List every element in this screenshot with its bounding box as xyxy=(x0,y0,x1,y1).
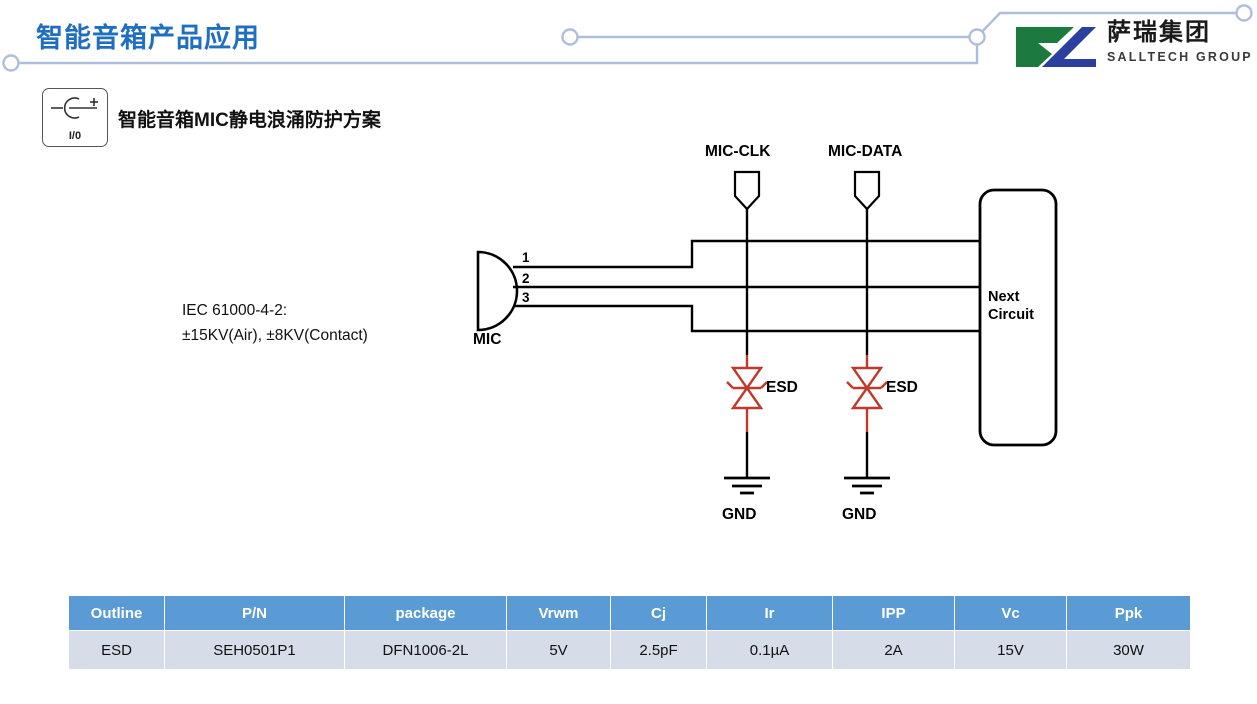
pin-number-2: 2 xyxy=(522,271,530,286)
label-next-circuit: Next Circuit xyxy=(988,288,1034,324)
next-circuit-line-2: Circuit xyxy=(988,306,1034,324)
esd-diode-2 xyxy=(847,355,887,432)
table-header-cell: Ppk xyxy=(1067,596,1191,631)
table-header-cell: Vrwm xyxy=(507,596,611,631)
table-cell: 30W xyxy=(1067,631,1191,670)
schematic-diagram: MIC-CLK MIC-DATA MIC ESD ESD GND GND Nex… xyxy=(0,0,1257,570)
label-esd-2: ESD xyxy=(886,379,918,397)
table-cell: DFN1006-2L xyxy=(345,631,507,670)
pin-number-3: 3 xyxy=(522,290,530,305)
table-cell: SEH0501P1 xyxy=(165,631,345,670)
label-mic-data: MIC-DATA xyxy=(828,143,902,161)
table-cell: ESD xyxy=(69,631,165,670)
table-cell: 15V xyxy=(955,631,1067,670)
table-header-cell: package xyxy=(345,596,507,631)
table-cell: 2A xyxy=(833,631,955,670)
table-header-row: OutlineP/NpackageVrwmCjIrIPPVcPpk xyxy=(69,596,1191,631)
esd-diode-1 xyxy=(727,355,767,432)
label-mic: MIC xyxy=(473,331,501,349)
table-cell: 5V xyxy=(507,631,611,670)
schematic-canvas xyxy=(0,0,1257,570)
table-header-cell: P/N xyxy=(165,596,345,631)
table-header-cell: Vc xyxy=(955,596,1067,631)
table-header-cell: IPP xyxy=(833,596,955,631)
port-mic-data-symbol xyxy=(855,172,879,209)
label-gnd-2: GND xyxy=(842,506,876,524)
gnd-symbol-2 xyxy=(844,432,890,493)
mic-symbol xyxy=(478,252,517,330)
label-gnd-1: GND xyxy=(722,506,756,524)
table-cell: 0.1µA xyxy=(707,631,833,670)
port-mic-clk-symbol xyxy=(735,172,759,209)
next-circuit-line-1: Next xyxy=(988,288,1034,306)
label-esd-1: ESD xyxy=(766,379,798,397)
gnd-symbol-1 xyxy=(724,432,770,493)
pin-number-1: 1 xyxy=(522,250,530,265)
table-header-cell: Ir xyxy=(707,596,833,631)
table-header-cell: Outline xyxy=(69,596,165,631)
table-header-cell: Cj xyxy=(611,596,707,631)
spec-table: OutlineP/NpackageVrwmCjIrIPPVcPpk ESDSEH… xyxy=(68,595,1191,670)
table-cell: 2.5pF xyxy=(611,631,707,670)
label-mic-clk: MIC-CLK xyxy=(705,143,770,161)
table-row: ESDSEH0501P1DFN1006-2L5V2.5pF0.1µA2A15V3… xyxy=(69,631,1191,670)
